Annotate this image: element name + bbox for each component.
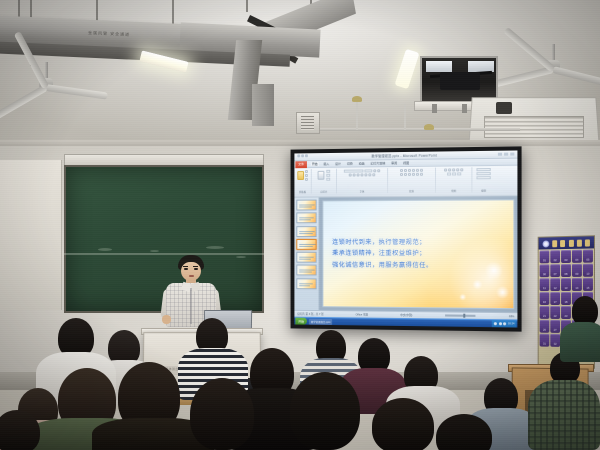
pocket-number: 22 bbox=[550, 315, 560, 318]
pocket-number: 12 bbox=[550, 287, 560, 290]
phone-pocket: 17 bbox=[550, 292, 560, 305]
ac-control-panel bbox=[496, 102, 512, 114]
slide-thumbnail[interactable] bbox=[296, 278, 316, 289]
shape-outline-icon[interactable] bbox=[452, 172, 456, 175]
pocket-number: 27 bbox=[550, 329, 560, 332]
slide-text-line-1: 连锁时代到来，执行管理规范； bbox=[332, 237, 504, 248]
phone-icon bbox=[552, 240, 557, 247]
shape-fill-icon[interactable] bbox=[447, 173, 451, 176]
convert-smartart-icon[interactable] bbox=[420, 173, 423, 176]
pocket-number: 32 bbox=[550, 343, 560, 346]
maximize-icon[interactable] bbox=[504, 153, 508, 156]
increase-indent-icon[interactable] bbox=[412, 169, 415, 172]
pocket-number: 05 bbox=[583, 259, 593, 262]
taskbar-item-powerpoint[interactable]: 教学管理规范.pptx bbox=[309, 318, 333, 324]
phone-pocket: 03 bbox=[561, 250, 571, 263]
character-spacing-icon[interactable] bbox=[368, 173, 371, 176]
zoom-slider[interactable] bbox=[445, 315, 475, 317]
system-tray[interactable]: 10:24 bbox=[492, 320, 516, 328]
student-head bbox=[372, 398, 434, 450]
font-size-select[interactable] bbox=[364, 169, 372, 172]
layout-icon[interactable] bbox=[326, 170, 330, 173]
tab-view[interactable]: 视图 bbox=[402, 161, 410, 165]
phone-pocket: 23 bbox=[561, 306, 571, 319]
ppt-workspace: 连锁时代到来，执行管理规范； 秉承连锁精神，注重权益维护； 强化诚信意识，用服务… bbox=[294, 196, 517, 312]
network-icon[interactable] bbox=[494, 322, 497, 325]
volume-icon[interactable] bbox=[499, 322, 502, 325]
tab-design[interactable]: 设计 bbox=[334, 162, 342, 166]
slide-text-line-2: 秉承连锁精神，注重权益维护； bbox=[332, 248, 504, 260]
phone-pocket: 02 bbox=[550, 250, 560, 263]
pocket-number: 23 bbox=[561, 315, 571, 318]
ceiling-conduit-drop bbox=[356, 100, 358, 130]
copy-icon[interactable] bbox=[305, 174, 308, 177]
language-indicator[interactable]: 中文(中国) bbox=[400, 313, 412, 317]
student-shoulders bbox=[528, 380, 600, 450]
duct-hanger-rod bbox=[172, 0, 174, 26]
ribbon-group-font[interactable]: 字体 bbox=[337, 168, 388, 193]
text-direction-icon[interactable] bbox=[420, 169, 423, 172]
select-icon[interactable] bbox=[476, 176, 490, 179]
line-spacing-icon[interactable] bbox=[416, 169, 419, 172]
underline-icon[interactable] bbox=[357, 173, 360, 176]
air-duct-dropline-lower bbox=[252, 84, 274, 126]
shape-effects-icon[interactable] bbox=[457, 172, 461, 175]
current-slide[interactable]: 连锁时代到来，执行管理规范； 秉承连锁精神，注重权益维护； 强化诚信意识，用服务… bbox=[322, 199, 514, 309]
pocket-number: 04 bbox=[572, 259, 582, 262]
slide-text-line-3: 强化诚信意识，用服务赢得信任。 bbox=[332, 259, 504, 271]
minimize-icon[interactable] bbox=[498, 153, 502, 156]
ceiling-fan-right bbox=[508, 44, 598, 80]
student-shoulders bbox=[560, 322, 600, 362]
phone-pocket: 11 bbox=[540, 278, 550, 291]
pocket-number: 18 bbox=[561, 301, 571, 304]
phone-pocket: 01 bbox=[540, 250, 550, 263]
lecturer-eyebrow bbox=[183, 266, 188, 267]
phone-pocket: 22 bbox=[550, 306, 560, 319]
school-emblem-icon bbox=[542, 240, 549, 247]
pocket-number: 08 bbox=[561, 273, 571, 276]
sprinkler-head bbox=[424, 124, 434, 130]
phone-pocket: 18 bbox=[561, 292, 571, 305]
wall-left-panel bbox=[0, 160, 62, 310]
phone-pocket: 27 bbox=[550, 320, 560, 333]
pocket-number: 07 bbox=[550, 273, 560, 276]
group-label: 剪贴板 bbox=[299, 190, 306, 194]
slide-thumbnail[interactable] bbox=[296, 226, 316, 237]
sparkle-decoration bbox=[472, 279, 482, 289]
pocket-number: 01 bbox=[540, 259, 550, 262]
start-button[interactable]: 开始 bbox=[295, 318, 307, 325]
ribbon[interactable]: 剪贴板 幻灯片 bbox=[294, 166, 517, 198]
redo-icon[interactable] bbox=[305, 154, 308, 157]
phone-pocket: 32 bbox=[550, 334, 560, 347]
lecturer-eye bbox=[184, 268, 188, 270]
classroom-photo: 金属风管 安全通道 bbox=[0, 0, 600, 450]
pocket-number: 21 bbox=[540, 315, 550, 318]
pocket-number: 14 bbox=[572, 287, 582, 290]
projection-screen: 教学管理规范.pptx - Microsoft PowerPoint 文件 开始… bbox=[291, 146, 522, 331]
tab-review[interactable]: 审阅 bbox=[390, 161, 398, 165]
phone-pocket: 08 bbox=[561, 264, 571, 277]
save-icon[interactable] bbox=[297, 154, 300, 157]
tab-file[interactable]: 文件 bbox=[295, 161, 307, 168]
group-label: 幻灯片 bbox=[320, 190, 327, 194]
window-controls[interactable] bbox=[498, 153, 514, 156]
decrease-indent-icon[interactable] bbox=[408, 169, 411, 172]
phone-icon bbox=[585, 239, 590, 246]
sprinkler-head bbox=[352, 96, 362, 102]
phone-pocket: 10 bbox=[583, 264, 593, 277]
slide-thumbnail[interactable] bbox=[296, 213, 316, 224]
columns-icon[interactable] bbox=[416, 173, 419, 176]
slide-editing-area[interactable]: 连锁时代到来，执行管理规范； 秉承连锁精神，注重权益维护； 强化诚信意识，用服务… bbox=[320, 196, 518, 312]
phone-pocket: 13 bbox=[561, 278, 571, 291]
pocket-number: 16 bbox=[540, 301, 550, 304]
student-head bbox=[290, 372, 360, 450]
align-center-icon[interactable] bbox=[404, 173, 407, 176]
phone-pocket: 05 bbox=[583, 249, 593, 262]
phone-pocket: 15 bbox=[583, 278, 593, 291]
new-slide-icon[interactable] bbox=[318, 171, 325, 180]
phone-icon bbox=[569, 239, 574, 246]
pocket-number: 13 bbox=[561, 287, 571, 290]
slide-thumbnail-panel[interactable] bbox=[294, 198, 319, 311]
powerpoint-window[interactable]: 教学管理规范.pptx - Microsoft PowerPoint 文件 开始… bbox=[294, 150, 517, 327]
replace-icon[interactable] bbox=[476, 172, 490, 175]
sparkle-decoration bbox=[459, 293, 466, 300]
theme-name: Office 主题 bbox=[356, 312, 368, 316]
slide-thumbnail[interactable] bbox=[296, 265, 316, 276]
phone-pocket: 26 bbox=[540, 320, 550, 333]
ribbon-group-paragraph[interactable]: 段落 bbox=[388, 168, 436, 193]
bold-icon[interactable] bbox=[349, 174, 352, 177]
grow-font-icon[interactable] bbox=[373, 169, 376, 172]
zoom-slider-knob[interactable] bbox=[463, 313, 465, 318]
lecturer-eye bbox=[194, 268, 198, 270]
slide-counter: 幻灯片 第 4 张，共 7 张 bbox=[297, 312, 323, 316]
section-icon[interactable] bbox=[326, 178, 330, 181]
strikethrough-icon[interactable] bbox=[364, 173, 367, 176]
italic-icon[interactable] bbox=[353, 173, 356, 176]
align-right-icon[interactable] bbox=[408, 173, 411, 176]
tab-transitions[interactable]: 切换 bbox=[346, 162, 354, 166]
projector-foot bbox=[462, 104, 467, 113]
shape-rect-icon[interactable] bbox=[444, 169, 447, 172]
pocket-number: 10 bbox=[583, 273, 593, 276]
tab-animations[interactable]: 动画 bbox=[358, 161, 366, 165]
speaker-grill bbox=[301, 116, 314, 130]
group-label: 编辑 bbox=[481, 188, 486, 192]
lecturer-eyebrow bbox=[193, 266, 198, 267]
ribbon-group-drawing[interactable]: 绘图 bbox=[436, 167, 472, 193]
font-color-icon[interactable] bbox=[372, 173, 375, 176]
zoom-level[interactable]: 68% bbox=[509, 315, 514, 318]
lecturer-hand bbox=[162, 315, 171, 324]
phone-pocket: 16 bbox=[540, 292, 550, 305]
tab-slideshow[interactable]: 幻灯片放映 bbox=[369, 161, 386, 165]
cut-icon[interactable] bbox=[305, 170, 308, 173]
pocket-number: 15 bbox=[583, 287, 593, 290]
ceiling-conduit-drop bbox=[404, 104, 406, 130]
pocket-number: 06 bbox=[540, 273, 550, 276]
slide-thumbnail-selected[interactable] bbox=[296, 239, 316, 250]
phone-icon bbox=[577, 239, 582, 246]
projector-body bbox=[440, 72, 480, 90]
pocket-number: 31 bbox=[540, 343, 550, 346]
student-head bbox=[190, 378, 254, 450]
slide-thumbnail[interactable] bbox=[296, 200, 316, 211]
quick-styles-icon[interactable] bbox=[460, 168, 463, 171]
tab-home[interactable]: 开始 bbox=[311, 162, 319, 166]
input-method-icon[interactable] bbox=[503, 322, 506, 325]
bullets-icon[interactable] bbox=[400, 169, 403, 172]
close-icon[interactable] bbox=[510, 153, 514, 156]
ribbon-group-editing[interactable]: 编辑 bbox=[472, 167, 494, 193]
ac-vent-grill bbox=[484, 116, 584, 138]
pocket-number: 02 bbox=[550, 259, 560, 262]
phone-pocket: 21 bbox=[540, 306, 550, 319]
windows-taskbar[interactable]: 开始 教学管理规范.pptx 10:24 bbox=[294, 317, 517, 328]
phone-pocket: 31 bbox=[540, 334, 550, 347]
chalk-smudge bbox=[150, 250, 159, 252]
chalk-smudge bbox=[206, 246, 224, 249]
phone-pocket: 14 bbox=[572, 278, 582, 291]
phone-pocket: 12 bbox=[550, 278, 560, 291]
shadow-icon[interactable] bbox=[360, 173, 363, 176]
pocket-number: 17 bbox=[550, 301, 560, 304]
find-icon[interactable] bbox=[476, 168, 490, 171]
wall-trim bbox=[0, 140, 600, 146]
taskbar-clock[interactable]: 10:24 bbox=[508, 322, 514, 325]
shape-circle-icon[interactable] bbox=[448, 168, 451, 171]
paste-icon[interactable] bbox=[297, 171, 304, 180]
undo-icon[interactable] bbox=[301, 154, 304, 157]
phone-pocket: 04 bbox=[572, 250, 582, 263]
lecturer-mouth bbox=[189, 275, 194, 277]
reset-icon[interactable] bbox=[326, 174, 330, 177]
sparkle-decoration bbox=[496, 286, 509, 299]
format-painter-icon[interactable] bbox=[305, 178, 308, 181]
ceiling-fan-left bbox=[6, 62, 86, 96]
group-label: 段落 bbox=[409, 189, 414, 193]
arrange-icon[interactable] bbox=[456, 168, 459, 171]
group-label: 绘图 bbox=[451, 189, 456, 193]
projector-foot bbox=[432, 104, 437, 113]
quick-access-toolbar[interactable] bbox=[297, 154, 308, 157]
lecturer-shirt-placket bbox=[190, 288, 192, 324]
group-label: 字体 bbox=[360, 189, 365, 193]
phone-pocket: 09 bbox=[572, 264, 582, 277]
font-family-select[interactable] bbox=[344, 169, 364, 172]
numbering-icon[interactable] bbox=[404, 169, 407, 172]
slide-thumbnail[interactable] bbox=[296, 252, 316, 263]
window-title: 教学管理规范.pptx - Microsoft PowerPoint bbox=[371, 153, 436, 159]
pocket-number: 26 bbox=[540, 329, 550, 332]
chalk-smudge bbox=[236, 256, 246, 258]
ceiling-conduit-pipe bbox=[320, 128, 520, 131]
phone-pocket: 07 bbox=[550, 264, 560, 277]
ribbon-group-clipboard[interactable]: 剪贴板 bbox=[294, 169, 311, 194]
justify-icon[interactable] bbox=[412, 173, 415, 176]
tab-insert[interactable]: 插入 bbox=[322, 162, 330, 166]
ribbon-group-slides[interactable]: 幻灯片 bbox=[312, 169, 337, 194]
phone-icon bbox=[560, 240, 565, 247]
pocket-number: 11 bbox=[540, 287, 550, 290]
shrink-font-icon[interactable] bbox=[377, 169, 380, 172]
chalk-smudge bbox=[98, 248, 112, 251]
shape-arrow-icon[interactable] bbox=[452, 168, 455, 171]
projector-window-left bbox=[426, 61, 452, 72]
phone-pocket: 06 bbox=[540, 264, 550, 277]
align-left-icon[interactable] bbox=[400, 173, 403, 176]
pocket-number: 03 bbox=[561, 259, 571, 262]
duct-hanger-rod bbox=[246, 0, 248, 12]
pocket-number: 09 bbox=[572, 273, 582, 276]
